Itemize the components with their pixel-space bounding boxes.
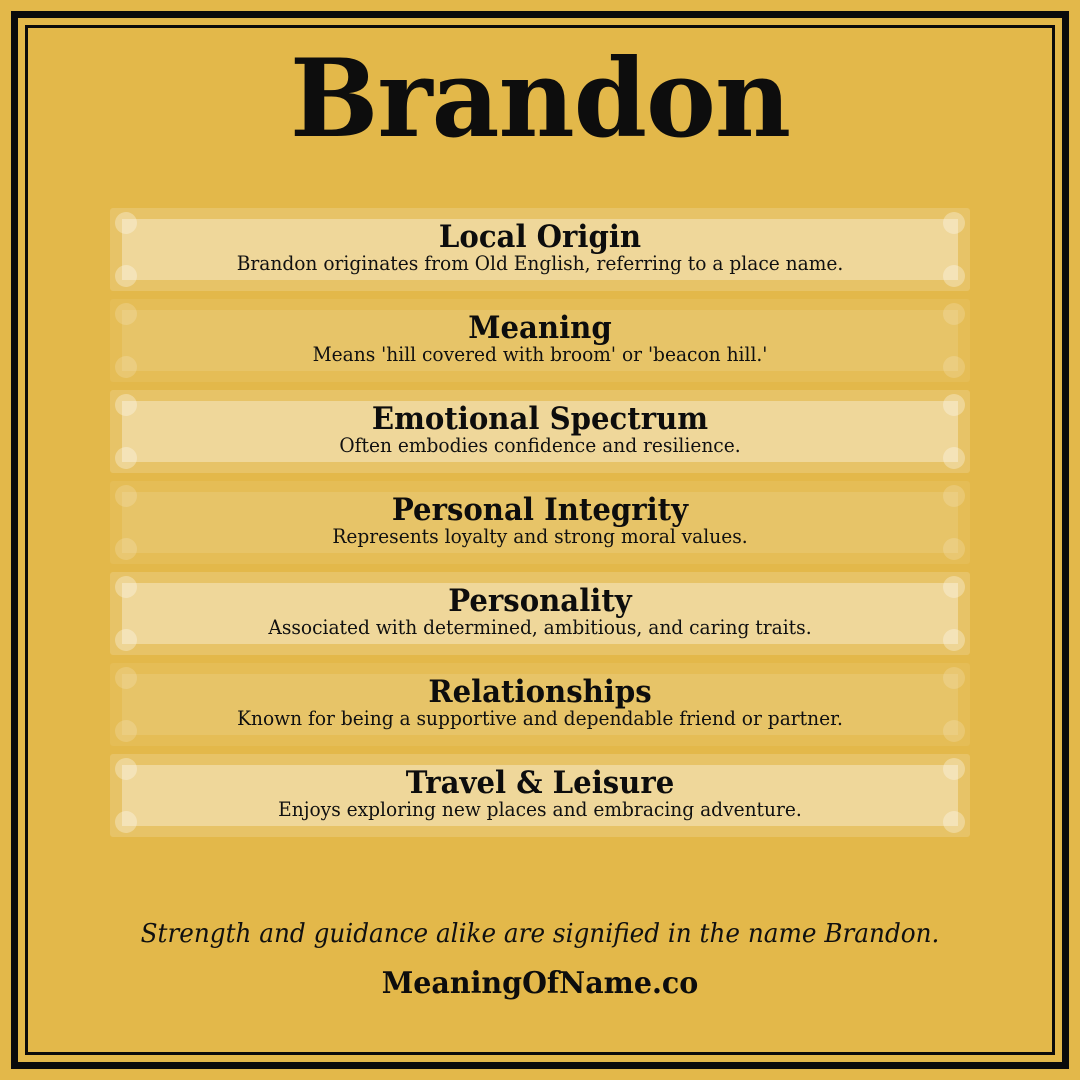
poster-footer: Strength and guidance alike are signifie…: [30, 918, 1050, 1002]
attribute-card: RelationshipsKnown for being a supportiv…: [110, 663, 970, 746]
card-heading: Personal Integrity: [136, 481, 944, 527]
card-description: Known for being a supportive and dependa…: [140, 707, 940, 729]
attribute-card: Emotional SpectrumOften embodies confide…: [110, 390, 970, 473]
attribute-card: Local OriginBrandon originates from Old …: [110, 208, 970, 291]
card-heading: Emotional Spectrum: [136, 390, 944, 436]
footer-brand: MeaningOfName.co: [56, 966, 1025, 1002]
footer-tagline: Strength and guidance alike are signifie…: [56, 918, 1025, 950]
card-heading: Personality: [136, 572, 944, 618]
card-text: Personal IntegrityRepresents loyalty and…: [110, 481, 970, 564]
card-heading: Travel & Leisure: [136, 754, 944, 800]
card-text: Travel & LeisureEnjoys exploring new pla…: [110, 754, 970, 837]
poster-content: Brandon Local OriginBrandon originates f…: [30, 30, 1050, 1050]
card-description: Means 'hill covered with broom' or 'beac…: [140, 343, 940, 365]
card-heading: Local Origin: [136, 208, 944, 254]
attribute-card: MeaningMeans 'hill covered with broom' o…: [110, 299, 970, 382]
card-text: Local OriginBrandon originates from Old …: [110, 208, 970, 291]
attribute-card-list: Local OriginBrandon originates from Old …: [110, 208, 970, 845]
name-title: Brandon: [45, 42, 1034, 156]
card-description: Brandon originates from Old English, ref…: [140, 252, 940, 274]
page-title: Brandon: [30, 42, 1050, 156]
card-text: MeaningMeans 'hill covered with broom' o…: [110, 299, 970, 382]
card-heading: Relationships: [136, 663, 944, 709]
card-description: Enjoys exploring new places and embracin…: [140, 798, 940, 820]
card-description: Represents loyalty and strong moral valu…: [140, 525, 940, 547]
card-heading: Meaning: [136, 299, 944, 345]
card-description: Associated with determined, ambitious, a…: [140, 616, 940, 638]
name-meaning-poster: Brandon Local OriginBrandon originates f…: [0, 0, 1080, 1080]
card-text: Emotional SpectrumOften embodies confide…: [110, 390, 970, 473]
attribute-card: Personal IntegrityRepresents loyalty and…: [110, 481, 970, 564]
card-text: PersonalityAssociated with determined, a…: [110, 572, 970, 655]
card-text: RelationshipsKnown for being a supportiv…: [110, 663, 970, 746]
attribute-card: Travel & LeisureEnjoys exploring new pla…: [110, 754, 970, 837]
card-description: Often embodies confidence and resilience…: [140, 434, 940, 456]
attribute-card: PersonalityAssociated with determined, a…: [110, 572, 970, 655]
